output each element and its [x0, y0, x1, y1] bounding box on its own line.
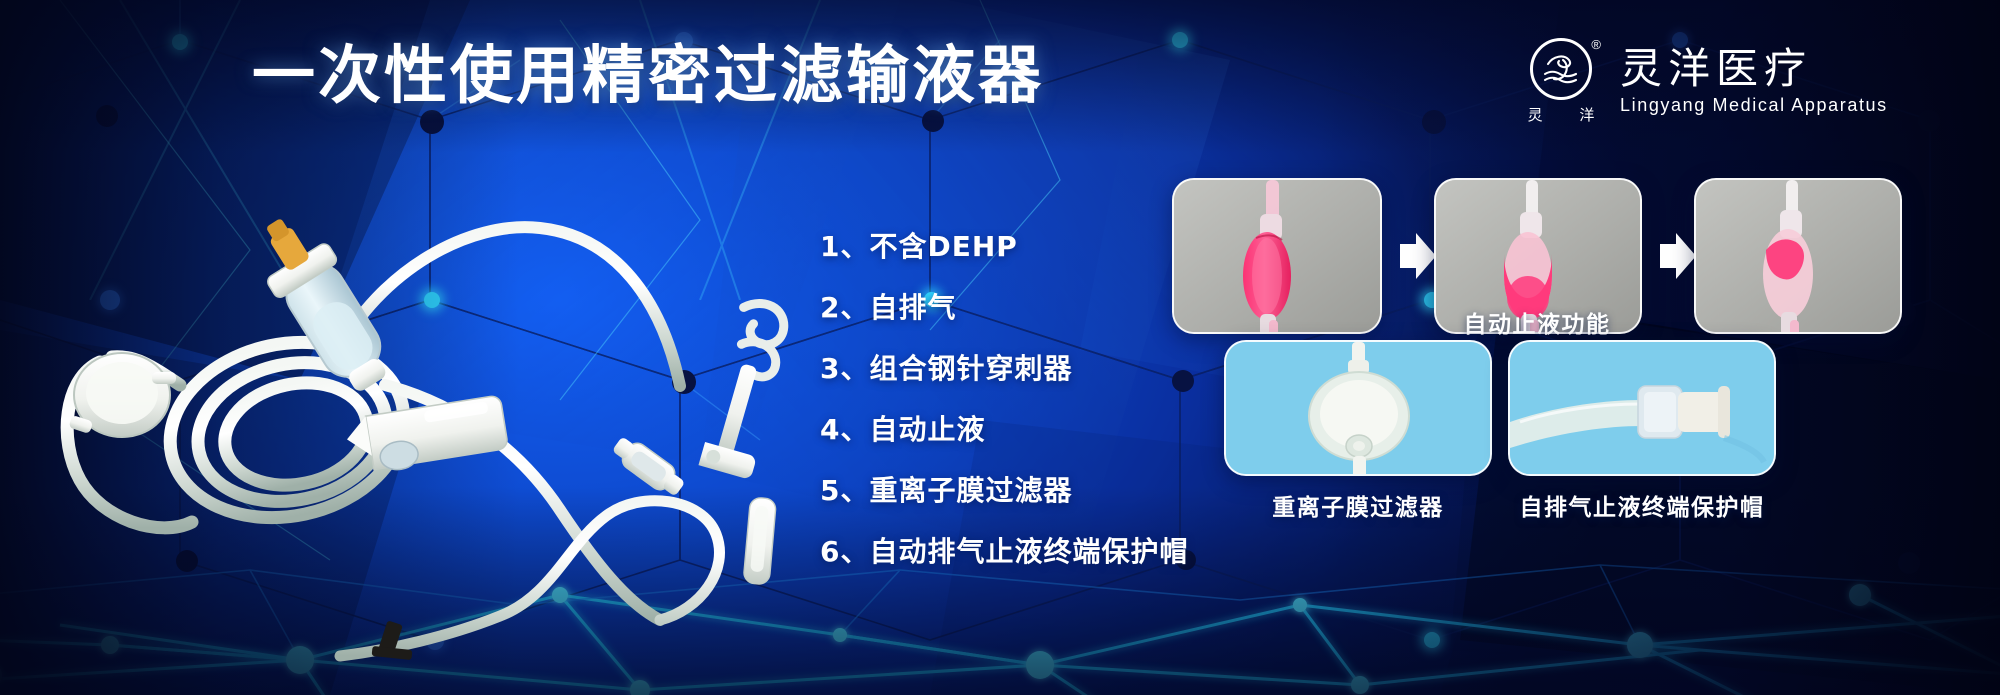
- arrow-right-icon: [1400, 233, 1436, 279]
- feature-item: 3、组合钢针穿刺器: [820, 338, 1188, 399]
- registered-mark-icon: ®: [1591, 38, 1601, 51]
- feature-item: 2、自排气: [820, 277, 1188, 338]
- brand-name-en: Lingyang Medical Apparatus: [1620, 95, 1888, 116]
- product-photo: [40, 150, 800, 670]
- brand-text: 灵洋医疗 Lingyang Medical Apparatus: [1620, 47, 1888, 116]
- feature-item: 5、重离子膜过滤器: [820, 460, 1188, 521]
- detail-panel-cap: [1508, 340, 1776, 476]
- feature-item: 1、不含DEHP: [820, 216, 1188, 277]
- winged-needle: [698, 299, 798, 480]
- seal-glyph-icon: [1536, 44, 1586, 94]
- brand-name-cn: 灵洋医疗: [1620, 47, 1888, 91]
- arrow-right-icon: [1660, 233, 1696, 279]
- detail-caption-cap: 自排气止液终端保护帽: [1508, 488, 1776, 522]
- logo-mark: ® 灵 洋: [1520, 38, 1602, 125]
- feature-item: 4、自动止液: [820, 399, 1188, 460]
- feature-item: 6、自动排气止液终端保护帽: [820, 521, 1188, 582]
- product-banner: 一次性使用精密过滤输液器 ® 灵 洋 灵洋医疗 Lingyang Medical…: [0, 0, 2000, 695]
- lingyang-seal-icon: ®: [1530, 38, 1592, 100]
- cap-closeup-photo: [1510, 342, 1776, 476]
- logo-subtext: 灵 洋: [1512, 104, 1611, 125]
- demo-caption: 自动止液功能: [1172, 305, 1902, 339]
- inline-filter: [609, 432, 689, 500]
- protective-cap: [743, 497, 776, 585]
- brand-logo[interactable]: ® 灵 洋 灵洋医疗 Lingyang Medical Apparatus: [1520, 38, 1888, 125]
- detail-panel-filter: [1224, 340, 1492, 476]
- filter-closeup-photo: [1226, 342, 1492, 476]
- page-title: 一次性使用精密过滤输液器: [252, 44, 1044, 107]
- feature-list: 1、不含DEHP 2、自排气 3、组合钢针穿刺器 4、自动止液 5、重离子膜过滤…: [820, 216, 1188, 582]
- infusion-set-illustration: [40, 150, 800, 670]
- detail-caption-filter: 重离子膜过滤器: [1224, 488, 1492, 522]
